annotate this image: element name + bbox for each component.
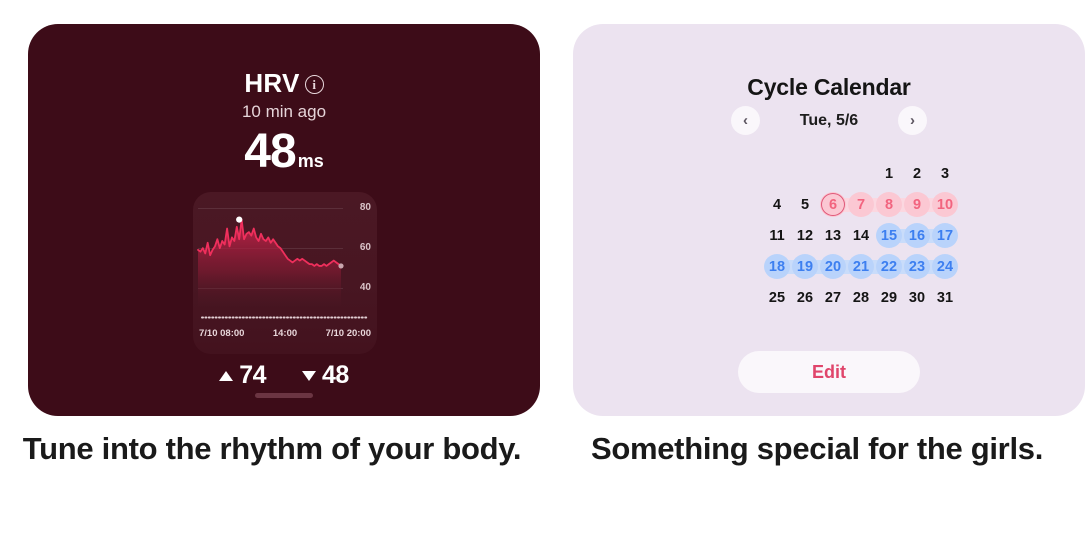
hrv-chart[interactable]: 80 60 40 [193, 192, 377, 354]
caption-cycle: Something special for the girls. [545, 428, 1089, 470]
edit-button[interactable]: Edit [738, 351, 920, 393]
calendar-day-12[interactable]: 12 [791, 220, 819, 251]
calendar-day-11[interactable]: 11 [763, 220, 791, 251]
calendar-day-empty [791, 158, 819, 189]
panel-hrv: HRV i 10 min ago 48 ms 80 60 40 [0, 0, 544, 544]
cycle-nav: ‹ Tue, 5/6 › [573, 106, 1085, 135]
calendar-day-7[interactable]: 7 [847, 189, 875, 220]
chart-axis-dots [201, 315, 369, 320]
xtick-label-2: 14:00 [273, 328, 297, 339]
xtick-label-3: 7/10 20:00 [326, 328, 371, 339]
calendar-day-16[interactable]: 16 [903, 220, 931, 251]
calendar-day-13[interactable]: 13 [819, 220, 847, 251]
cycle-card: Cycle Calendar ‹ Tue, 5/6 › 123456789101… [573, 24, 1085, 416]
calendar-day-5[interactable]: 5 [791, 189, 819, 220]
calendar-day-24[interactable]: 24 [931, 251, 959, 282]
screenshot-stage: HRV i 10 min ago 48 ms 80 60 40 [0, 0, 1089, 544]
hrv-max: 74 [219, 361, 266, 390]
up-triangle-icon [219, 371, 233, 381]
hrv-value: 48 [244, 124, 295, 179]
calendar-day-4[interactable]: 4 [763, 189, 791, 220]
calendar-day-26[interactable]: 26 [791, 282, 819, 313]
calendar-day-1[interactable]: 1 [875, 158, 903, 189]
calendar-week-row: 25262728293031 [763, 282, 963, 313]
calendar-day-18[interactable]: 18 [763, 251, 791, 282]
down-triangle-icon [302, 371, 316, 381]
page-title: HRV [244, 68, 299, 99]
calendar-day-9[interactable]: 9 [903, 189, 931, 220]
calendar-day-29[interactable]: 29 [875, 282, 903, 313]
hrv-value-row: 48 ms [28, 124, 540, 179]
calendar-day-empty [847, 158, 875, 189]
calendar-day-19[interactable]: 19 [791, 251, 819, 282]
caption-hrv: Tune into the rhythm of your body. [0, 428, 544, 470]
calendar-day-30[interactable]: 30 [903, 282, 931, 313]
hrv-max-value: 74 [239, 361, 266, 390]
hrv-unit: ms [298, 151, 324, 172]
chevron-left-icon[interactable]: ‹ [731, 106, 760, 135]
hrv-chart-svg [193, 196, 377, 306]
calendar-day-8[interactable]: 8 [875, 189, 903, 220]
hrv-minmax-row: 74 48 [28, 361, 540, 390]
cycle-date-label: Tue, 5/6 [788, 112, 870, 130]
home-indicator [255, 393, 313, 398]
cycle-title: Cycle Calendar [573, 74, 1085, 101]
hrv-title-row: HRV i [28, 68, 540, 99]
calendar-week-row: 45678910 [763, 189, 963, 220]
info-icon[interactable]: i [305, 75, 324, 94]
calendar-day-23[interactable]: 23 [903, 251, 931, 282]
calendar-day-20[interactable]: 20 [819, 251, 847, 282]
panel-cycle: Cycle Calendar ‹ Tue, 5/6 › 123456789101… [545, 0, 1089, 544]
calendar-day-22[interactable]: 22 [875, 251, 903, 282]
calendar-day-3[interactable]: 3 [931, 158, 959, 189]
calendar-day-27[interactable]: 27 [819, 282, 847, 313]
calendar-week-row: 123 [763, 158, 963, 189]
calendar-day-empty [763, 158, 791, 189]
calendar-day-14[interactable]: 14 [847, 220, 875, 251]
chart-xtick-labels: 7/10 08:00 14:00 7/10 20:00 [199, 328, 371, 339]
chevron-right-icon[interactable]: › [898, 106, 927, 135]
hrv-min-value: 48 [322, 361, 349, 390]
hrv-card: HRV i 10 min ago 48 ms 80 60 40 [28, 24, 540, 416]
calendar-day-31[interactable]: 31 [931, 282, 959, 313]
calendar-day-17[interactable]: 17 [931, 220, 959, 251]
calendar-day-2[interactable]: 2 [903, 158, 931, 189]
hrv-timestamp: 10 min ago [28, 102, 540, 122]
calendar-day-15[interactable]: 15 [875, 220, 903, 251]
calendar-day-25[interactable]: 25 [763, 282, 791, 313]
calendar-week-row: 18192021222324 [763, 251, 963, 282]
xtick-label-1: 7/10 08:00 [199, 328, 244, 339]
calendar-day-6[interactable]: 6 [819, 189, 847, 220]
calendar-day-empty [819, 158, 847, 189]
calendar-grid: 1234567891011121314151617181920212223242… [763, 158, 963, 313]
hrv-min: 48 [302, 361, 349, 390]
calendar-day-21[interactable]: 21 [847, 251, 875, 282]
calendar-week-row: 11121314151617 [763, 220, 963, 251]
calendar-day-28[interactable]: 28 [847, 282, 875, 313]
calendar-day-10[interactable]: 10 [931, 189, 959, 220]
